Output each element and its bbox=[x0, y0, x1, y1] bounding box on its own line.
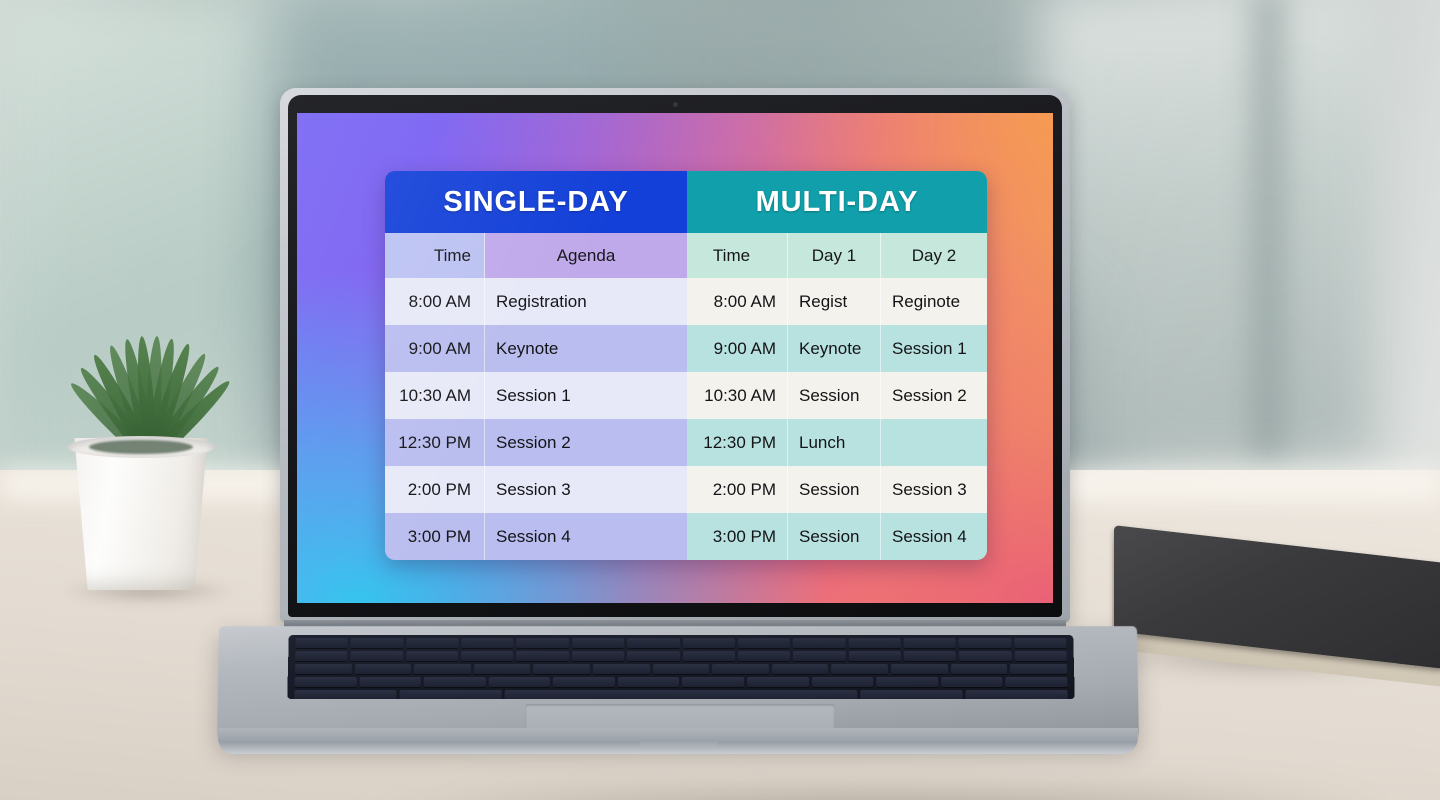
table-row[interactable]: 10:30 AMSessionSession 2 bbox=[687, 372, 987, 419]
single-day-body: 8:00 AMRegistration9:00 AMKeynote10:30 A… bbox=[385, 278, 687, 560]
keyboard-key[interactable] bbox=[747, 677, 809, 687]
keyboard-key[interactable] bbox=[294, 690, 396, 699]
keyboard-key[interactable] bbox=[295, 651, 348, 661]
laptop-keyboard[interactable] bbox=[287, 635, 1075, 699]
table-row[interactable]: 2:00 PMSession 3 bbox=[385, 466, 687, 513]
multi-day-title: MULTI-DAY bbox=[687, 171, 987, 233]
keyboard-key[interactable] bbox=[904, 638, 956, 648]
keyboard-key[interactable] bbox=[831, 664, 888, 674]
cell-time: 3:00 PM bbox=[687, 513, 788, 560]
table-row[interactable]: 9:00 AMKeynote bbox=[385, 325, 687, 372]
table-row[interactable]: 2:00 PMSessionSession 3 bbox=[687, 466, 987, 513]
cell-day-1: Session bbox=[788, 372, 881, 419]
keyboard-key[interactable] bbox=[682, 677, 744, 687]
cell-agenda: Session 2 bbox=[485, 419, 687, 466]
cell-day-2: Session 3 bbox=[881, 466, 987, 513]
keyboard-key[interactable] bbox=[1014, 651, 1067, 661]
keyboard-key[interactable] bbox=[966, 690, 1068, 699]
single-day-table: SINGLE-DAY Time Agenda 8:00 AMRegistrati… bbox=[385, 171, 687, 560]
cell-day-2 bbox=[881, 419, 987, 466]
keyboard-key[interactable] bbox=[294, 677, 356, 687]
cell-day-2: Reginote bbox=[881, 278, 987, 325]
keyboard-row bbox=[287, 690, 1075, 699]
keyboard-key[interactable] bbox=[904, 651, 956, 661]
keyboard-key[interactable] bbox=[941, 677, 1003, 687]
keyboard-key[interactable] bbox=[738, 651, 790, 661]
keyboard-key[interactable] bbox=[474, 664, 531, 674]
keyboard-key[interactable] bbox=[959, 638, 1011, 648]
cell-day-1: Keynote bbox=[788, 325, 881, 372]
keyboard-key[interactable] bbox=[793, 651, 845, 661]
cell-time: 9:00 AM bbox=[385, 325, 485, 372]
keyboard-key[interactable] bbox=[295, 664, 352, 674]
cell-day-2: Session 4 bbox=[881, 513, 987, 560]
cell-day-2: Session 2 bbox=[881, 372, 987, 419]
keyboard-row bbox=[288, 664, 1074, 674]
cell-agenda: Session 4 bbox=[485, 513, 687, 560]
laptop-shadow bbox=[395, 788, 1375, 800]
cell-day-2: Session 1 bbox=[881, 325, 987, 372]
cell-time: 8:00 AM bbox=[385, 278, 485, 325]
cell-day-1: Lunch bbox=[788, 419, 881, 466]
cell-day-1: Regist bbox=[788, 278, 881, 325]
keyboard-key[interactable] bbox=[861, 690, 963, 699]
keyboard-key[interactable] bbox=[1006, 677, 1068, 687]
keyboard-key[interactable] bbox=[1010, 664, 1067, 674]
cell-time: 2:00 PM bbox=[385, 466, 485, 513]
column-header-agenda: Agenda bbox=[485, 233, 687, 278]
keyboard-key[interactable] bbox=[1014, 638, 1067, 648]
cell-time: 8:00 AM bbox=[687, 278, 788, 325]
keyboard-key[interactable] bbox=[959, 651, 1012, 661]
table-row[interactable]: 3:00 PMSession 4 bbox=[385, 513, 687, 560]
keyboard-key[interactable] bbox=[350, 651, 403, 661]
keyboard-key[interactable] bbox=[295, 638, 348, 648]
laptop-screen: SINGLE-DAY Time Agenda 8:00 AMRegistrati… bbox=[297, 113, 1053, 603]
keyboard-key[interactable] bbox=[424, 677, 486, 687]
keyboard-key[interactable] bbox=[354, 664, 411, 674]
keyboard-key[interactable] bbox=[876, 677, 938, 687]
keyboard-row bbox=[287, 677, 1074, 687]
table-row[interactable]: 12:30 PMSession 2 bbox=[385, 419, 687, 466]
cell-agenda: Registration bbox=[485, 278, 687, 325]
keyboard-key[interactable] bbox=[399, 690, 501, 699]
cell-agenda: Session 1 bbox=[485, 372, 687, 419]
cell-agenda: Session 3 bbox=[485, 466, 687, 513]
keyboard-key[interactable] bbox=[351, 638, 403, 648]
column-header-time: Time bbox=[687, 233, 788, 278]
keyboard-key[interactable] bbox=[359, 677, 421, 687]
background-window-frame bbox=[1255, 0, 1281, 460]
keyboard-key[interactable] bbox=[618, 677, 680, 687]
cell-day-1: Session bbox=[788, 466, 881, 513]
multi-day-body: 8:00 AMRegistReginote9:00 AMKeynoteSessi… bbox=[687, 278, 987, 560]
keyboard-key[interactable] bbox=[461, 638, 513, 648]
keyboard-key[interactable] bbox=[406, 638, 458, 648]
keyboard-key[interactable] bbox=[683, 651, 735, 661]
keyboard-key[interactable] bbox=[772, 664, 829, 674]
webcam-icon bbox=[673, 102, 678, 107]
keyboard-key[interactable] bbox=[572, 651, 624, 661]
keyboard-key[interactable] bbox=[891, 664, 948, 674]
cell-time: 10:30 AM bbox=[687, 372, 788, 419]
cell-time: 10:30 AM bbox=[385, 372, 485, 419]
keyboard-key[interactable] bbox=[627, 638, 679, 648]
multi-day-table: MULTI-DAY Time Day 1 Day 2 8:00 AMRegist… bbox=[687, 171, 987, 560]
table-row[interactable]: 8:00 AMRegistration bbox=[385, 278, 687, 325]
keyboard-key[interactable] bbox=[553, 677, 615, 687]
single-day-column-headers: Time Agenda bbox=[385, 233, 687, 278]
cell-time: 9:00 AM bbox=[687, 325, 788, 372]
keyboard-key[interactable] bbox=[848, 638, 900, 648]
keyboard-key[interactable] bbox=[738, 638, 790, 648]
keyboard-key[interactable] bbox=[951, 664, 1008, 674]
keyboard-key[interactable] bbox=[406, 651, 458, 661]
keyboard-key[interactable] bbox=[414, 664, 471, 674]
cell-agenda: Keynote bbox=[485, 325, 687, 372]
cell-time: 3:00 PM bbox=[385, 513, 485, 560]
plant-pot-soil bbox=[89, 440, 193, 454]
multi-day-column-headers: Time Day 1 Day 2 bbox=[687, 233, 987, 278]
laptop-base-notch bbox=[640, 740, 718, 750]
cell-time: 2:00 PM bbox=[687, 466, 788, 513]
keyboard-row bbox=[288, 651, 1074, 661]
column-header-day-2: Day 2 bbox=[881, 233, 987, 278]
laptop: SINGLE-DAY Time Agenda 8:00 AMRegistrati… bbox=[200, 88, 1175, 768]
cell-time: 12:30 PM bbox=[385, 419, 485, 466]
keyboard-key[interactable] bbox=[593, 664, 650, 674]
cell-time: 12:30 PM bbox=[687, 419, 788, 466]
keyboard-key[interactable] bbox=[627, 651, 679, 661]
table-row[interactable]: 8:00 AMRegistReginote bbox=[687, 278, 987, 325]
keyboard-key[interactable] bbox=[488, 677, 550, 687]
keyboard-key[interactable] bbox=[712, 664, 769, 674]
keyboard-key[interactable] bbox=[504, 690, 857, 699]
cell-day-1: Session bbox=[788, 513, 881, 560]
keyboard-key[interactable] bbox=[572, 638, 624, 648]
keyboard-key[interactable] bbox=[812, 677, 874, 687]
column-header-time: Time bbox=[385, 233, 485, 278]
table-row[interactable]: 10:30 AMSession 1 bbox=[385, 372, 687, 419]
keyboard-row bbox=[288, 638, 1073, 648]
scene-photo: SINGLE-DAY Time Agenda 8:00 AMRegistrati… bbox=[0, 0, 1440, 800]
table-row[interactable]: 3:00 PMSessionSession 4 bbox=[687, 513, 987, 560]
plant-pot bbox=[67, 438, 215, 590]
single-day-title: SINGLE-DAY bbox=[385, 171, 687, 233]
keyboard-key[interactable] bbox=[517, 638, 569, 648]
table-row[interactable]: 9:00 AMKeynoteSession 1 bbox=[687, 325, 987, 372]
keyboard-key[interactable] bbox=[793, 638, 845, 648]
keyboard-key[interactable] bbox=[517, 651, 569, 661]
keyboard-key[interactable] bbox=[848, 651, 900, 661]
schedule-tables: SINGLE-DAY Time Agenda 8:00 AMRegistrati… bbox=[385, 171, 987, 560]
keyboard-key[interactable] bbox=[653, 664, 710, 674]
keyboard-key[interactable] bbox=[533, 664, 590, 674]
table-row[interactable]: 12:30 PMLunch bbox=[687, 419, 987, 466]
column-header-day-1: Day 1 bbox=[788, 233, 881, 278]
keyboard-key[interactable] bbox=[461, 651, 513, 661]
keyboard-key[interactable] bbox=[683, 638, 735, 648]
